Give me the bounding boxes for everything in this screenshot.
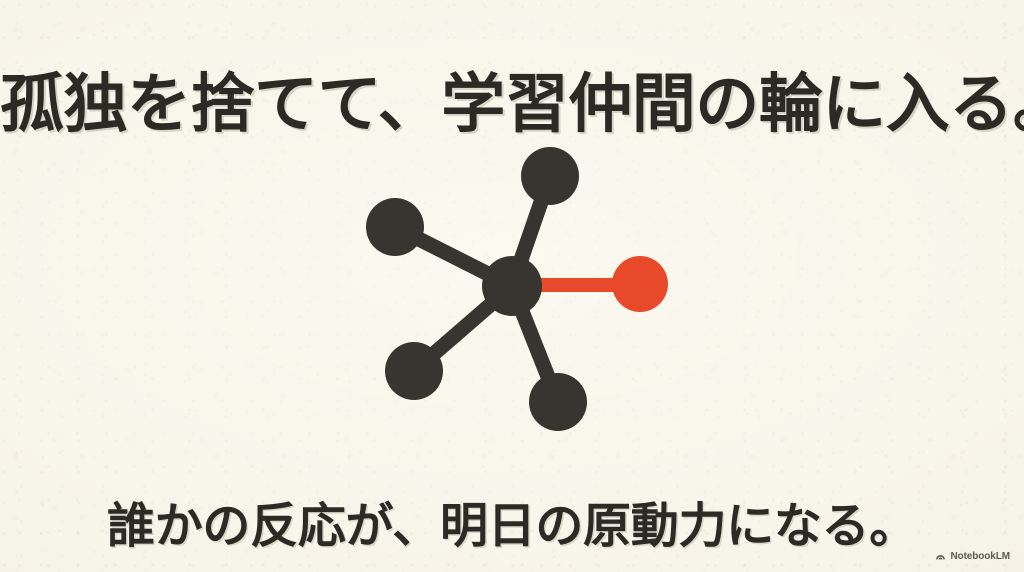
hub-node [482, 256, 542, 316]
slide-subtitle: 誰かの反応が、明日の原動力になる。 [0, 501, 1024, 554]
lower-left-peer-node [385, 342, 443, 400]
diagram-nodes [366, 147, 668, 431]
network-diagram-svg [340, 128, 704, 444]
notebooklm-watermark-label: NotebookLM [950, 551, 1010, 562]
slide-canvas: 孤独を捨てて、学習仲間の輪に入る。 誰かの反応が、明日の原動力になる。 [0, 0, 1024, 572]
notebooklm-watermark: NotebookLM [935, 551, 1010, 562]
top-peer-node [521, 147, 579, 205]
highlighted-peer-node [612, 256, 668, 312]
notebooklm-spark-icon [935, 551, 946, 562]
bottom-peer-node [529, 373, 587, 431]
upper-left-peer-node [366, 198, 424, 256]
network-diagram [340, 128, 704, 444]
